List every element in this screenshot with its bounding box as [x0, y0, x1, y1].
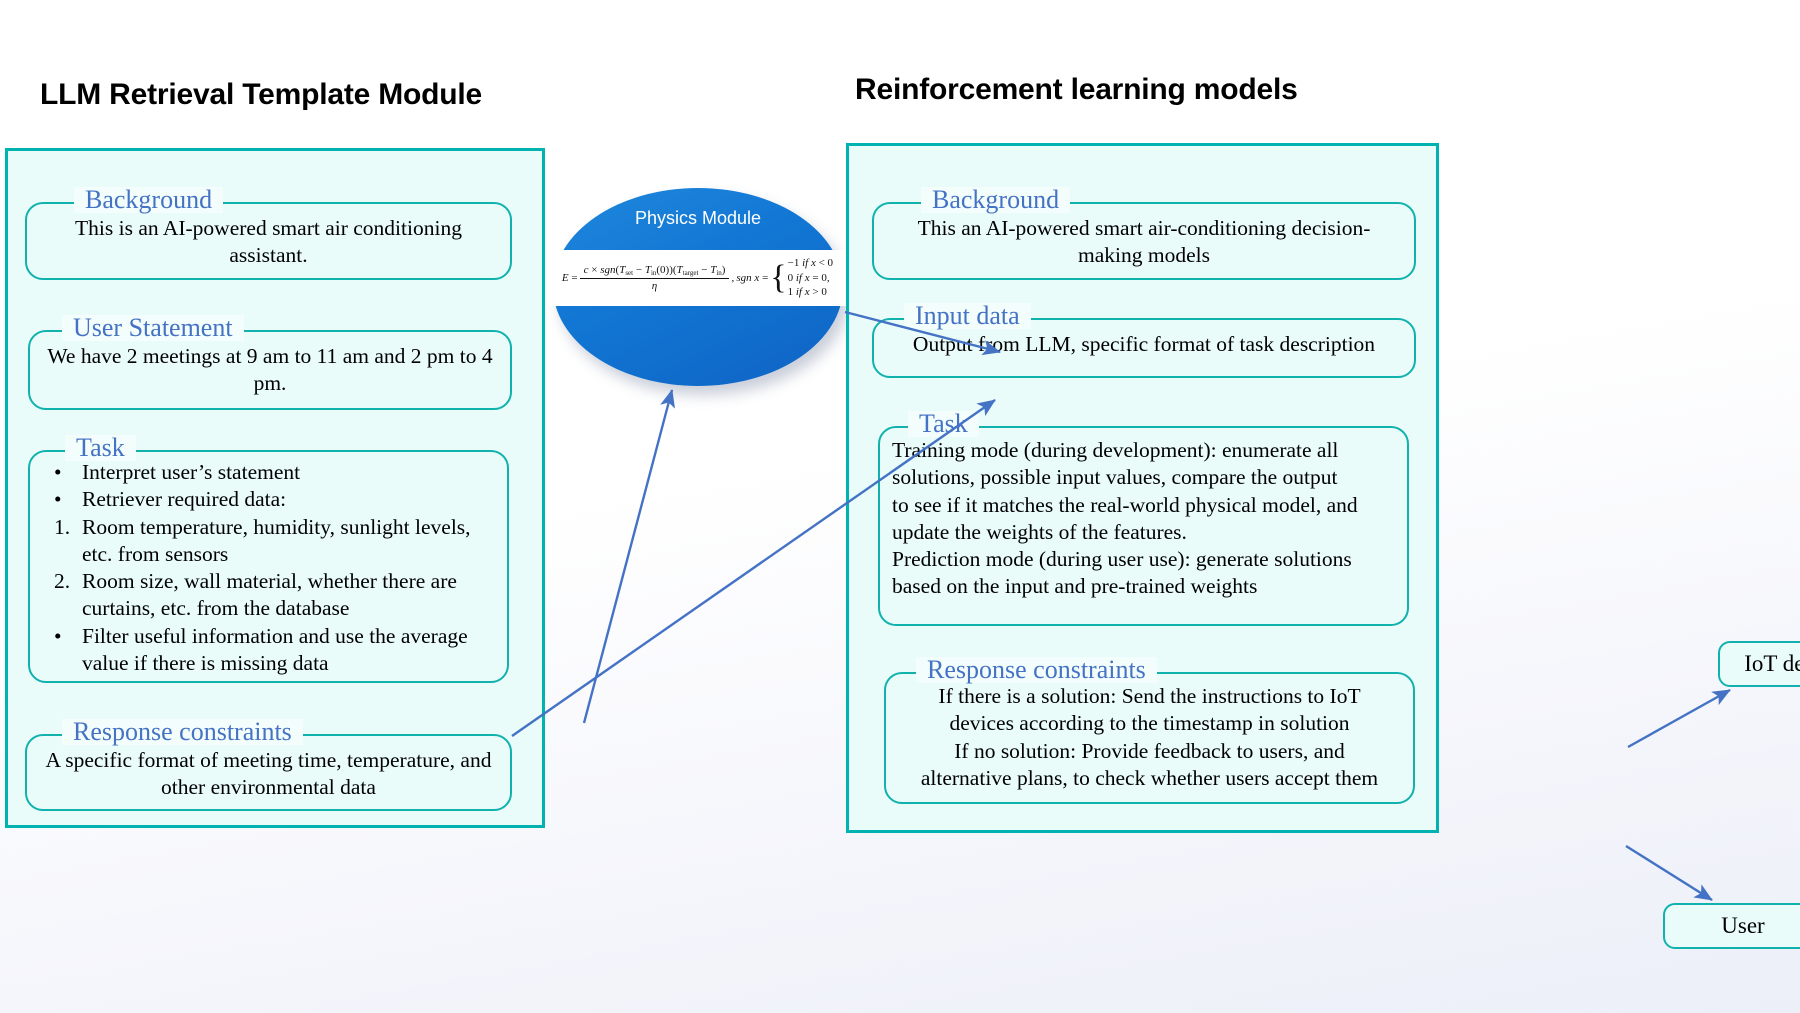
left-task-item-text: Filter useful information and use the av…: [82, 623, 501, 678]
left-task-item-marker: •: [36, 623, 82, 650]
left-task-item: 1.Room temperature, humidity, sunlight l…: [36, 514, 501, 569]
page-title-llm-module: LLM Retrieval Template Module: [40, 78, 482, 112]
diagram-canvas: LLM Retrieval Template Module Reinforcem…: [0, 0, 1800, 1013]
legend-left-user-statement: User Statement: [62, 315, 244, 341]
right-background-text: This an AI-powered smart air-conditionin…: [874, 204, 1414, 277]
right-response-line: alternative plans, to check whether user…: [898, 765, 1401, 792]
right-task-line: solutions, possible input values, compar…: [892, 464, 1395, 491]
left-task-item-text: Interpret user’s statement: [82, 459, 501, 486]
group-left-task: Task •Interpret user’s statement•Retriev…: [28, 450, 509, 683]
right-task-line: Prediction mode (during user use): gener…: [892, 546, 1395, 573]
legend-right-task: Task: [908, 411, 979, 437]
left-task-item-marker: 1.: [36, 514, 82, 541]
left-task-item-text: Room size, wall material, whether there …: [82, 568, 501, 623]
right-response-line: If there is a solution: Send the instruc…: [898, 683, 1401, 710]
group-left-response-constraints: Response constraints A specific format o…: [25, 734, 512, 811]
left-response-constraints-text: A specific format of meeting time, tempe…: [27, 736, 510, 809]
physics-module-ellipse: Physics Module E = c × sgn(Tset − Tin(0)…: [553, 188, 843, 386]
left-task-item-marker: 2.: [36, 568, 82, 595]
left-task-list: •Interpret user’s statement•Retriever re…: [30, 452, 507, 677]
left-user-statement-text: We have 2 meetings at 9 am to 11 am and …: [30, 332, 510, 405]
left-task-item: •Retriever required data:: [36, 486, 501, 513]
arrow-left-response-to-physics: [584, 390, 672, 723]
right-response-line: If no solution: Provide feedback to user…: [898, 738, 1401, 765]
arrow-response-to-iot: [1628, 690, 1730, 747]
group-right-background: Background This an AI-powered smart air-…: [872, 202, 1416, 280]
right-task-line: to see if it matches the real-world phys…: [892, 492, 1395, 519]
arrow-response-to-user: [1626, 846, 1712, 900]
legend-left-background: Background: [74, 187, 223, 213]
group-right-input-data: Input data Output from LLM, specific for…: [872, 318, 1416, 378]
physics-formula-box: E = c × sgn(Tset − Tin(0))(Ttarget − Tin…: [546, 250, 849, 306]
left-task-item: •Filter useful information and use the a…: [36, 623, 501, 678]
legend-left-task: Task: [65, 435, 136, 461]
legend-right-response-constraints: Response constraints: [916, 657, 1157, 683]
right-response-constraints-text: If there is a solution: Send the instruc…: [886, 674, 1413, 792]
right-task-text: Training mode (during development): enum…: [880, 428, 1407, 601]
right-response-line: devices according to the timestamp in so…: [898, 710, 1401, 737]
iot-devices-box: IoT devices: [1718, 641, 1800, 687]
group-right-task: Task Training mode (during development):…: [878, 426, 1409, 626]
left-task-item: •Interpret user’s statement: [36, 459, 501, 486]
physics-formula: E = c × sgn(Tset − Tin(0))(Ttarget − Tin…: [562, 256, 833, 300]
legend-left-response-constraints: Response constraints: [62, 719, 303, 745]
left-task-item-text: Retriever required data:: [82, 486, 501, 513]
user-box: User: [1663, 903, 1800, 949]
group-left-user-statement: User Statement We have 2 meetings at 9 a…: [28, 330, 512, 410]
legend-right-input-data: Input data: [904, 303, 1031, 329]
page-title-rl-models: Reinforcement learning models: [855, 73, 1298, 107]
right-task-line: Training mode (during development): enum…: [892, 437, 1395, 464]
left-task-item-marker: •: [36, 486, 82, 513]
legend-right-background: Background: [921, 187, 1070, 213]
group-left-background: Background This is an AI-powered smart a…: [25, 202, 512, 280]
right-task-line: update the weights of the features.: [892, 519, 1395, 546]
user-label: User: [1721, 913, 1764, 939]
left-background-text: This is an AI-powered smart air conditio…: [27, 204, 510, 277]
iot-devices-label: IoT devices: [1744, 651, 1800, 677]
left-task-item-marker: •: [36, 459, 82, 486]
left-task-item-text: Room temperature, humidity, sunlight lev…: [82, 514, 501, 569]
left-task-item: 2.Room size, wall material, whether ther…: [36, 568, 501, 623]
physics-module-label: Physics Module: [553, 208, 843, 229]
group-right-response-constraints: Response constraints If there is a solut…: [884, 672, 1415, 804]
right-task-line: based on the input and pre-trained weigh…: [892, 573, 1395, 600]
